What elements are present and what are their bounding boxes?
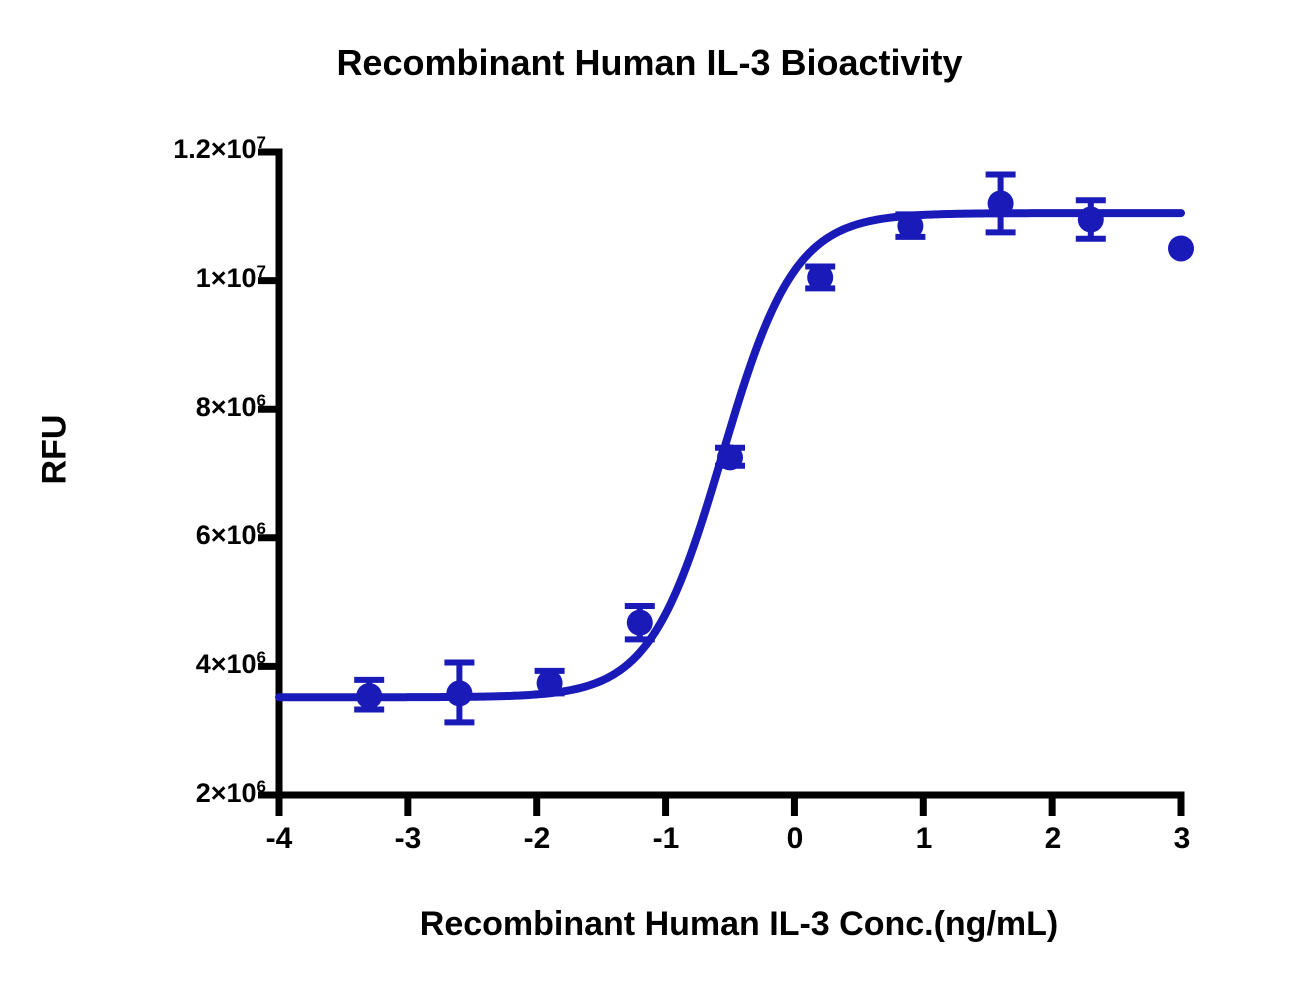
data-point-marker: [356, 683, 382, 709]
data-point-marker: [446, 680, 472, 706]
chart-title: Recombinant Human IL-3 Bioactivity: [0, 42, 1299, 84]
data-point-marker: [1078, 207, 1104, 233]
data-point-marker: [897, 213, 923, 239]
y-axis-label: RFU: [36, 395, 75, 505]
data-point-marker: [537, 670, 563, 696]
x-tick-label-3: 3: [1152, 822, 1212, 856]
data-point-marker: [807, 264, 833, 290]
x-tick-label--1: -1: [636, 822, 696, 856]
x-axis-label: Recombinant Human IL-3 Conc.(ng/mL): [279, 905, 1199, 944]
y-tick-label-6e6: 6×106: [196, 520, 266, 551]
y-tick-label-8e6: 8×106: [196, 392, 266, 423]
y-tick-label-4e6: 4×106: [196, 649, 266, 680]
data-point-marker: [988, 190, 1014, 216]
x-tick-label--2: -2: [507, 822, 567, 856]
x-tick-label--3: -3: [378, 822, 438, 856]
x-tick-label-0: 0: [765, 822, 825, 856]
y-tick-label-1.2e7: 1.2×107: [173, 134, 266, 165]
data-point-marker: [717, 444, 743, 470]
y-tick-label-2e6: 2×106: [196, 778, 266, 809]
x-tick-label-2: 2: [1023, 822, 1083, 856]
chart-figure: Recombinant Human IL-3 Bioactivity RFU R…: [0, 0, 1299, 999]
x-tick-label-1: 1: [894, 822, 954, 856]
y-tick-label-1e7: 1×107: [196, 263, 266, 294]
data-point-marker: [627, 610, 653, 636]
data-points: [356, 190, 1194, 709]
x-tick-label--4: -4: [249, 822, 309, 856]
data-point-marker: [1168, 235, 1194, 261]
